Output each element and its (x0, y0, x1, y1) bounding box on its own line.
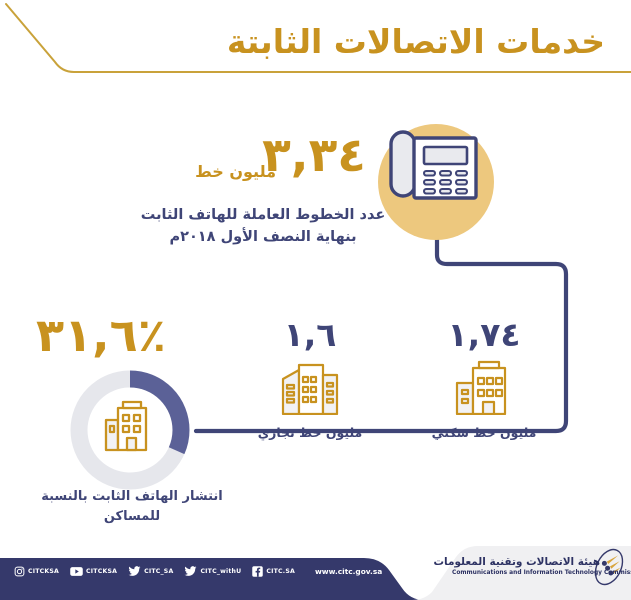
page-title: خدمات الاتصالات الثابتة (227, 22, 605, 61)
twitter-icon (184, 566, 197, 577)
penetration-donut-chart (68, 368, 192, 492)
social-link-youtube[interactable]: CITCKSA (70, 566, 117, 577)
social-links: CITCKSA CITCKSA CITC_SA CITC_withU (14, 566, 382, 577)
social-link-twitter-citc-withu[interactable]: CITC_withU (184, 566, 241, 577)
social-link-facebook[interactable]: CITC.SA (252, 566, 295, 577)
stat-residential-label: مليون خط سكني (426, 425, 542, 440)
desk-phone-icon (388, 128, 488, 220)
twitter-icon (128, 566, 141, 577)
penetration-value: ٪٣١,٦ (36, 312, 166, 358)
stat-commercial-value: ١,٦ (252, 318, 368, 351)
youtube-icon (70, 566, 83, 577)
commercial-building-icon (252, 357, 368, 415)
stat-commercial: ١,٦ (252, 318, 368, 440)
stat-residential: ١,٧٤ مليون خط سكني (426, 318, 542, 440)
social-link-instagram[interactable]: CITCKSA (14, 566, 59, 577)
stat-commercial-label: مليون خط تجاري (252, 425, 368, 440)
website-link[interactable]: www.citc.gov.sa (306, 567, 382, 576)
hero-value: ٣,٣٤ (262, 132, 366, 179)
instagram-icon (14, 566, 25, 577)
citc-logo-english: Communications and Information Technolog… (452, 570, 600, 576)
infographic-canvas: خدمات الاتصالات الثابتة ٣,٣٤ مليون خط عد… (0, 0, 631, 600)
twitter-handle-citc-withu: CITC_withU (200, 568, 241, 575)
stat-residential-value: ١,٧٤ (426, 318, 542, 351)
social-link-twitter-citc-sa[interactable]: CITC_SA (128, 566, 173, 577)
hero-description: عدد الخطوط العاملة للهاتف الثابت بنهاية … (133, 205, 393, 249)
facebook-handle: CITC.SA (266, 568, 295, 575)
youtube-handle: CITCKSA (86, 568, 117, 575)
residential-building-icon (426, 357, 542, 415)
instagram-handle: CITCKSA (28, 568, 59, 575)
citc-logo-arabic: هيئة الاتصالات وتقنية المعلومات (452, 556, 600, 568)
penetration-label: انتشار الهاتف الثابت بالنسبة للمساكن (34, 487, 230, 526)
facebook-icon (252, 566, 263, 577)
hero-unit-label: مليون خط (195, 162, 276, 181)
building-icon (106, 402, 146, 450)
twitter-handle-citc-sa: CITC_SA (144, 568, 173, 575)
